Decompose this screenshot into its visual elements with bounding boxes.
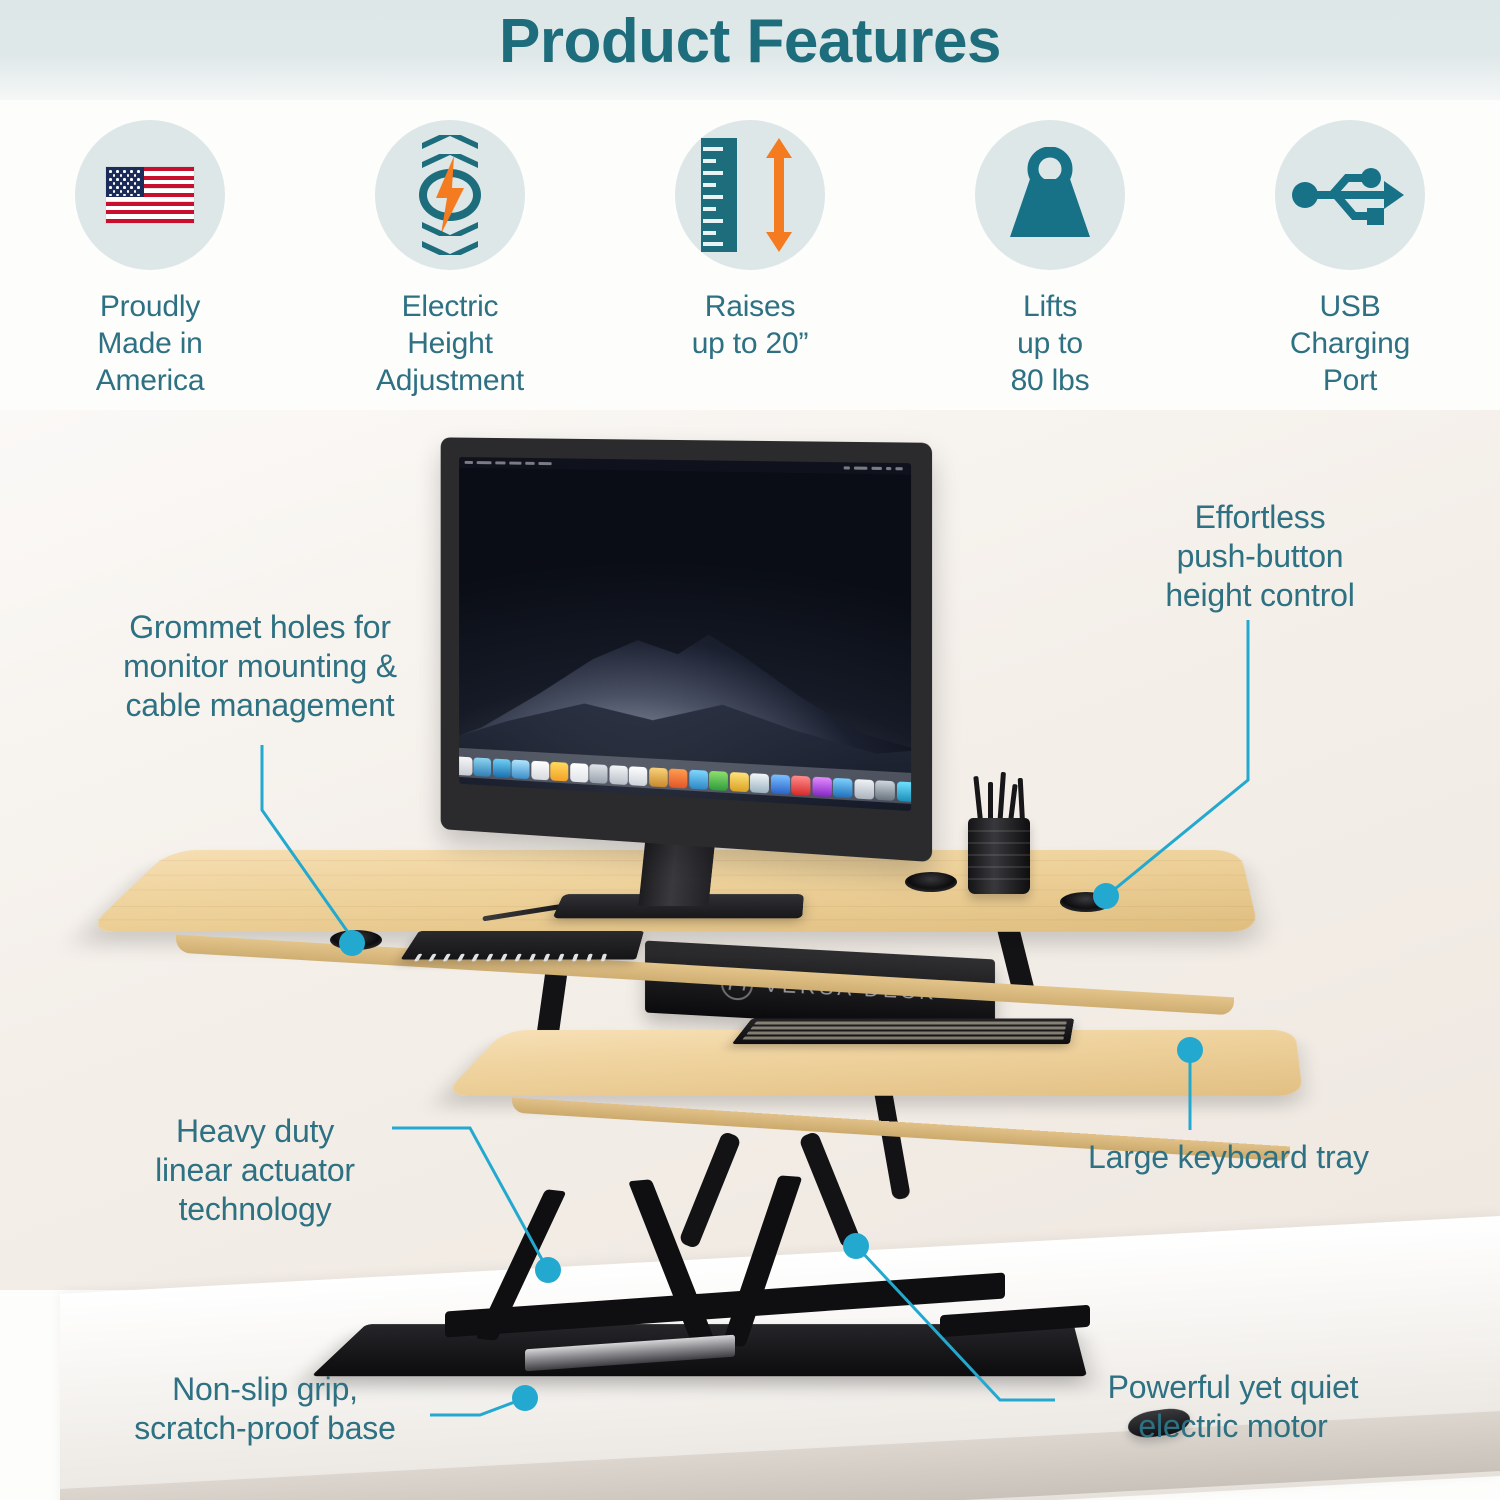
electric-height-icon [402,135,498,255]
feature-icon-row: Proudly Made in America [0,120,1500,410]
height-control-button[interactable] [1060,892,1112,912]
feature-item-raises-height: Raises up to 20” [600,120,900,410]
feature-item-electric-height: Electric Height Adjustment [300,120,600,410]
base-frame [330,1170,1130,1430]
pencil-cup [968,818,1030,894]
callout-linear-actuator: Heavy duty linear actuator technology [105,1112,405,1229]
grommet-hole[interactable] [330,930,382,950]
monitor [428,440,928,910]
feature-label: Proudly Made in America [96,288,205,399]
feature-label: Electric Height Adjustment [376,288,524,399]
page-title: Product Features [0,6,1500,77]
feature-item-made-in-america: Proudly Made in America [0,120,300,410]
feature-item-lift-capacity: Lifts up to 80 lbs [900,120,1200,410]
spiral-notebook [401,931,644,959]
icon-badge [75,120,225,270]
callout-grommet-holes: Grommet holes for monitor mounting & cab… [70,608,450,725]
callout-non-slip-base: Non-slip grip, scratch-proof base [95,1370,435,1448]
double-arrow-icon [759,136,799,254]
infographic-canvas: Product Features [0,0,1500,1500]
callout-push-button: Effortless push-button height control [1110,498,1410,615]
monitor-screen [459,457,911,811]
weight-icon [1000,147,1100,243]
feature-item-usb-port: USB Charging Port [1200,120,1500,410]
icon-badge [375,120,525,270]
usb-icon [1292,156,1408,234]
monitor-bezel [441,437,932,862]
feature-label: USB Charging Port [1290,288,1410,399]
feature-label: Lifts up to 80 lbs [1011,288,1090,399]
feature-label: Raises up to 20” [692,288,809,362]
icon-badge [1275,120,1425,270]
usa-flag-icon [106,167,194,223]
ruler-height-icon [695,134,805,256]
keyboard [732,1018,1075,1044]
callout-keyboard-tray: Large keyboard tray [1088,1138,1448,1177]
icon-badge [675,120,825,270]
macos-menu-bar [459,457,911,475]
icon-badge [975,120,1125,270]
x-frame-leg [722,1175,803,1346]
callout-electric-motor: Powerful yet quiet electric motor [1058,1368,1408,1446]
